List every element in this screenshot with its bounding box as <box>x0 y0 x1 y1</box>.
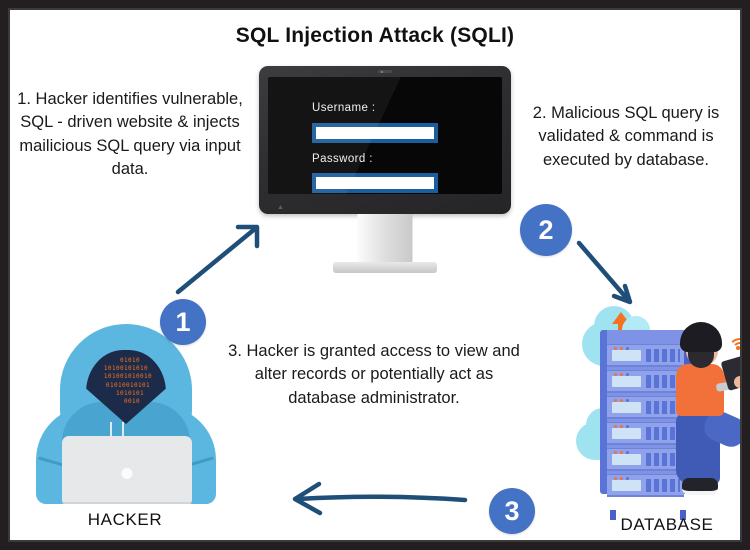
webcam-icon <box>378 70 392 73</box>
server-drive-slots <box>646 375 680 388</box>
step-3-text: 3. Hacker is granted access to view and … <box>228 340 520 410</box>
server-panel <box>612 454 641 465</box>
hacker-caption: HACKER <box>20 510 230 530</box>
status-led <box>614 373 617 376</box>
monitor-bezel: Username : Password : ▲ <box>259 66 511 214</box>
username-input[interactable] <box>312 123 438 143</box>
password-input[interactable] <box>312 173 438 193</box>
server-drive-slots <box>646 349 680 362</box>
status-led <box>620 425 623 428</box>
admin-hand <box>734 376 742 388</box>
laptop-logo-icon <box>122 468 133 479</box>
status-led <box>626 347 629 350</box>
password-label: Password : <box>312 153 373 165</box>
server-panel <box>612 480 641 491</box>
page-title: SQL Injection Attack (SQLI) <box>10 24 740 48</box>
status-led <box>620 399 623 402</box>
database-caption: DATABASE <box>582 515 742 535</box>
binary-code-text: 01010 10100101010 101001010010 010100101… <box>86 357 166 406</box>
status-led <box>626 477 629 480</box>
step-badge-1: 1 <box>160 299 206 345</box>
monitor-illustration: Username : Password : ▲ <box>259 66 511 266</box>
status-led <box>626 425 629 428</box>
server-panel <box>612 350 641 361</box>
server-shelf <box>607 422 684 445</box>
server-panel <box>612 428 641 439</box>
monitor-base <box>333 262 437 273</box>
wifi-icon <box>728 328 742 348</box>
status-led <box>626 399 629 402</box>
status-led <box>614 477 617 480</box>
status-led <box>620 451 623 454</box>
username-label: Username : <box>312 102 375 114</box>
diagram-canvas: SQL Injection Attack (SQLI) 1. Hacker id… <box>8 8 742 542</box>
status-led <box>614 399 617 402</box>
server-drive-slots <box>646 479 680 492</box>
step-1-text: 1. Hacker identifies vulnerable, SQL - d… <box>16 88 244 182</box>
monitor-brand-mark: ▲ <box>277 204 284 211</box>
server-panel <box>612 376 641 387</box>
server-drive-slots <box>646 401 680 414</box>
server-drive-slots <box>646 427 680 440</box>
step-2-text: 2. Malicious SQL query is validated & co… <box>510 102 742 172</box>
step-badge-2: 2 <box>520 204 572 256</box>
status-led <box>626 451 629 454</box>
monitor-screen: Username : Password : <box>268 77 502 194</box>
database-illustration <box>576 314 742 510</box>
status-led <box>620 477 623 480</box>
status-led <box>620 347 623 350</box>
server-shelf <box>607 448 684 471</box>
admin-shoe <box>682 478 718 495</box>
hacker-laptop <box>62 436 192 504</box>
server-drive-slots <box>646 453 680 466</box>
status-led <box>626 373 629 376</box>
status-led <box>614 347 617 350</box>
arrow-step-1 <box>178 228 256 292</box>
step-badge-3: 3 <box>489 488 535 534</box>
server-shelf <box>607 396 684 419</box>
status-led <box>620 373 623 376</box>
status-led <box>614 425 617 428</box>
status-led <box>614 451 617 454</box>
admin-hair <box>680 322 722 352</box>
server-shelf <box>607 474 684 497</box>
arrow-step-2 <box>579 243 629 301</box>
arrow-step-3 <box>298 497 465 500</box>
server-shelf <box>607 370 684 393</box>
server-shelf <box>607 344 684 367</box>
server-panel <box>612 402 641 413</box>
